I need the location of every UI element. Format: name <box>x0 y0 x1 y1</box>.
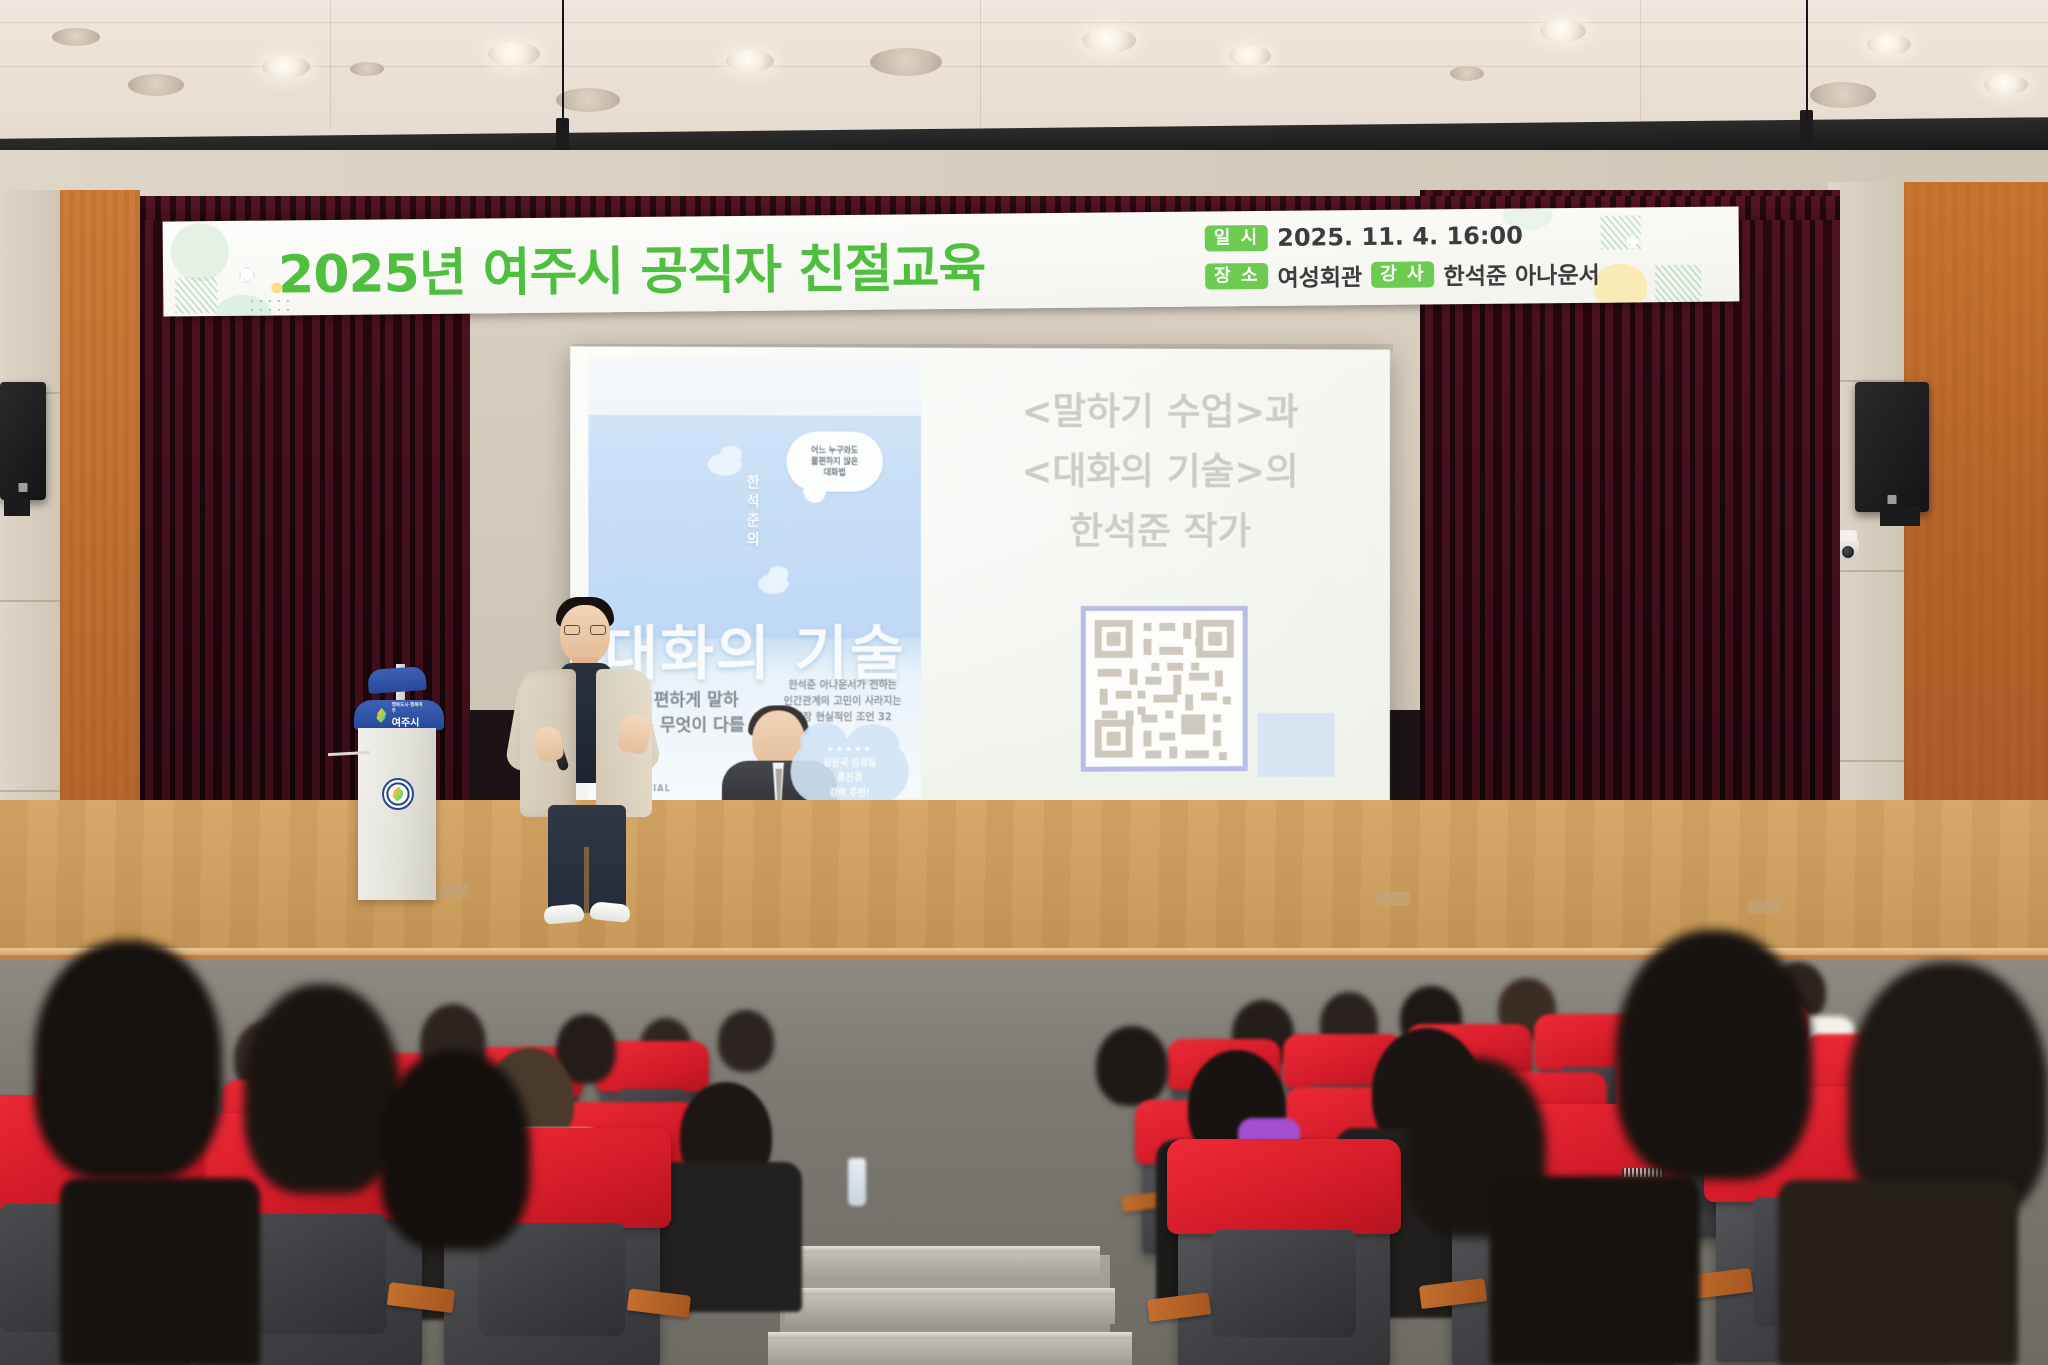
event-banner: 2025년 여주시 공직자 친절교육 일 시 2025. 11. 4. 16:0… <box>163 206 1740 316</box>
banner-meta-row-venue: 장 소 여성회관 강 사 한석준 아나운서 <box>1205 253 1635 295</box>
ceiling-downlight <box>262 56 310 78</box>
slide-qr-code[interactable] <box>1081 606 1248 772</box>
banner-decoration <box>171 223 230 282</box>
slide-accent-square <box>1258 713 1335 777</box>
speaker-mount <box>4 498 30 516</box>
book-bubble-line-3: 대화법 <box>824 468 846 478</box>
ceiling-downlight <box>1082 28 1136 53</box>
slide-text-block: <말하기 수업>과 <대화의 기술>의 한석준 작가 <box>951 382 1368 562</box>
audience-head <box>1096 1026 1168 1106</box>
audience-head-foreground <box>34 940 222 1180</box>
aisle-step <box>800 1250 1100 1280</box>
yeoju-flame-icon <box>374 708 389 723</box>
suspension-wire <box>562 0 564 125</box>
aisle-step <box>785 1292 1115 1324</box>
audience-head-foreground <box>1616 930 1812 1180</box>
left-wood-pier <box>58 190 140 890</box>
slide-line-2: <대화의 기술>의 <box>951 442 1368 503</box>
ceiling-downlight <box>488 42 540 66</box>
stage-floor-plate <box>1748 900 1780 914</box>
ceiling-downlight <box>1984 74 2028 95</box>
presenter-glasses <box>564 625 606 635</box>
banner-meta-value-venue: 여성회관 <box>1277 258 1362 293</box>
audience-torso-foreground <box>1778 1180 2018 1365</box>
book-endorsement-line-2: 홍진경 <box>790 771 909 787</box>
book-endorsement-stars: ★★★★★ <box>790 742 909 756</box>
podium: 행복도시·행복여주 여주시 <box>338 660 444 900</box>
auditorium-photo: 2025년 여주시 공직자 친절교육 일 시 2025. 11. 4. 16:0… <box>0 0 2048 1365</box>
aisle-step <box>768 1336 1132 1365</box>
ceiling-downlight <box>1229 46 1271 66</box>
banner-meta-tag-venue: 장 소 <box>1205 263 1269 289</box>
ceiling-air-vent <box>350 62 384 76</box>
ceiling-air-vent <box>556 88 620 112</box>
water-bottle <box>848 1158 866 1206</box>
podium-logo-text: 행복도시·행복여주 여주시 <box>392 702 424 729</box>
presenter-shoe-right <box>589 901 631 923</box>
book-bubble-line-1: 어느 누구와도 <box>811 446 858 456</box>
ceiling-air-vent <box>52 28 100 46</box>
slide-line-1: <말하기 수업>과 <box>951 382 1368 443</box>
projection-screen: 어느 누구와도 불편하지 않은 대화법 한석준의 대화의 기술 어디서든 편하게… <box>570 346 1390 812</box>
ceiling-downlight <box>1867 34 1911 55</box>
aisle-step-nosing <box>800 1246 1100 1253</box>
banner-decoration <box>1655 265 1701 305</box>
presenter <box>498 597 674 927</box>
ceiling-downlight <box>726 50 774 72</box>
book-subtitle-line-1: 한석준 아나운서가 전하는 <box>766 678 919 694</box>
podium-upper-sign <box>367 666 427 694</box>
aisle-step-nosing <box>785 1288 1115 1295</box>
banner-decoration-x <box>239 267 255 283</box>
banner-meta-tag-lecturer: 강 사 <box>1371 261 1435 287</box>
podium-logo-tagline: 행복도시·행복여주 <box>392 702 424 714</box>
audience-torso <box>652 1162 802 1312</box>
banner-title: 2025년 여주시 공직자 친절교육 <box>278 226 986 308</box>
ceiling-air-vent <box>1450 66 1484 81</box>
ceiling-air-vent <box>1810 82 1876 108</box>
book-cover-endorsement-text: ★★★★★ 강원국 김경일 홍진경 강력 추천! <box>790 742 909 802</box>
aisle-step-nosing <box>768 1332 1132 1339</box>
banner-meta-block: 일 시 2025. 11. 4. 16:00 장 소 여성회관 강 사 한석준 … <box>1205 215 1636 295</box>
presenter-shoe-left <box>543 903 584 924</box>
speaker-mount <box>1880 506 1920 526</box>
banner-meta-tag-date: 일 시 <box>1205 225 1269 251</box>
banner-meta-value-lecturer: 한석준 아나운서 <box>1443 256 1599 291</box>
audience-head-foreground <box>380 1050 530 1250</box>
audience-torso-foreground <box>60 1178 260 1365</box>
banner-meta-value-date: 2025. 11. 4. 16:00 <box>1277 222 1523 252</box>
banner-meta-row-date: 일 시 2025. 11. 4. 16:00 <box>1205 215 1635 257</box>
book-cover-speech-bubble: 어느 누구와도 불편하지 않은 대화법 <box>786 431 882 491</box>
stage-floor-plate <box>1376 892 1410 906</box>
suspension-wire <box>1806 0 1808 118</box>
slide-line-3: 한석준 작가 <box>951 502 1368 562</box>
audience-head <box>718 1010 774 1072</box>
banner-decoration <box>175 277 217 313</box>
right-wall-speaker <box>1855 382 1929 512</box>
podium-city-seal <box>382 778 414 810</box>
book-endorsement-line-1: 강원국 김경일 <box>790 756 909 772</box>
ceiling-downlight <box>1540 20 1586 42</box>
audience-torso-foreground <box>1490 1176 1700 1365</box>
ceiling-air-vent <box>870 48 942 76</box>
audience-head-foreground <box>244 984 400 1194</box>
book-cover-author: 한석준의 <box>742 474 764 550</box>
left-wall-speaker <box>0 382 46 500</box>
podium-logo: 행복도시·행복여주 여주시 <box>374 706 424 725</box>
audience-seat <box>1178 1160 1390 1365</box>
book-bubble-line-2: 불편하지 않은 <box>811 457 858 467</box>
ceiling-air-vent <box>128 74 184 96</box>
